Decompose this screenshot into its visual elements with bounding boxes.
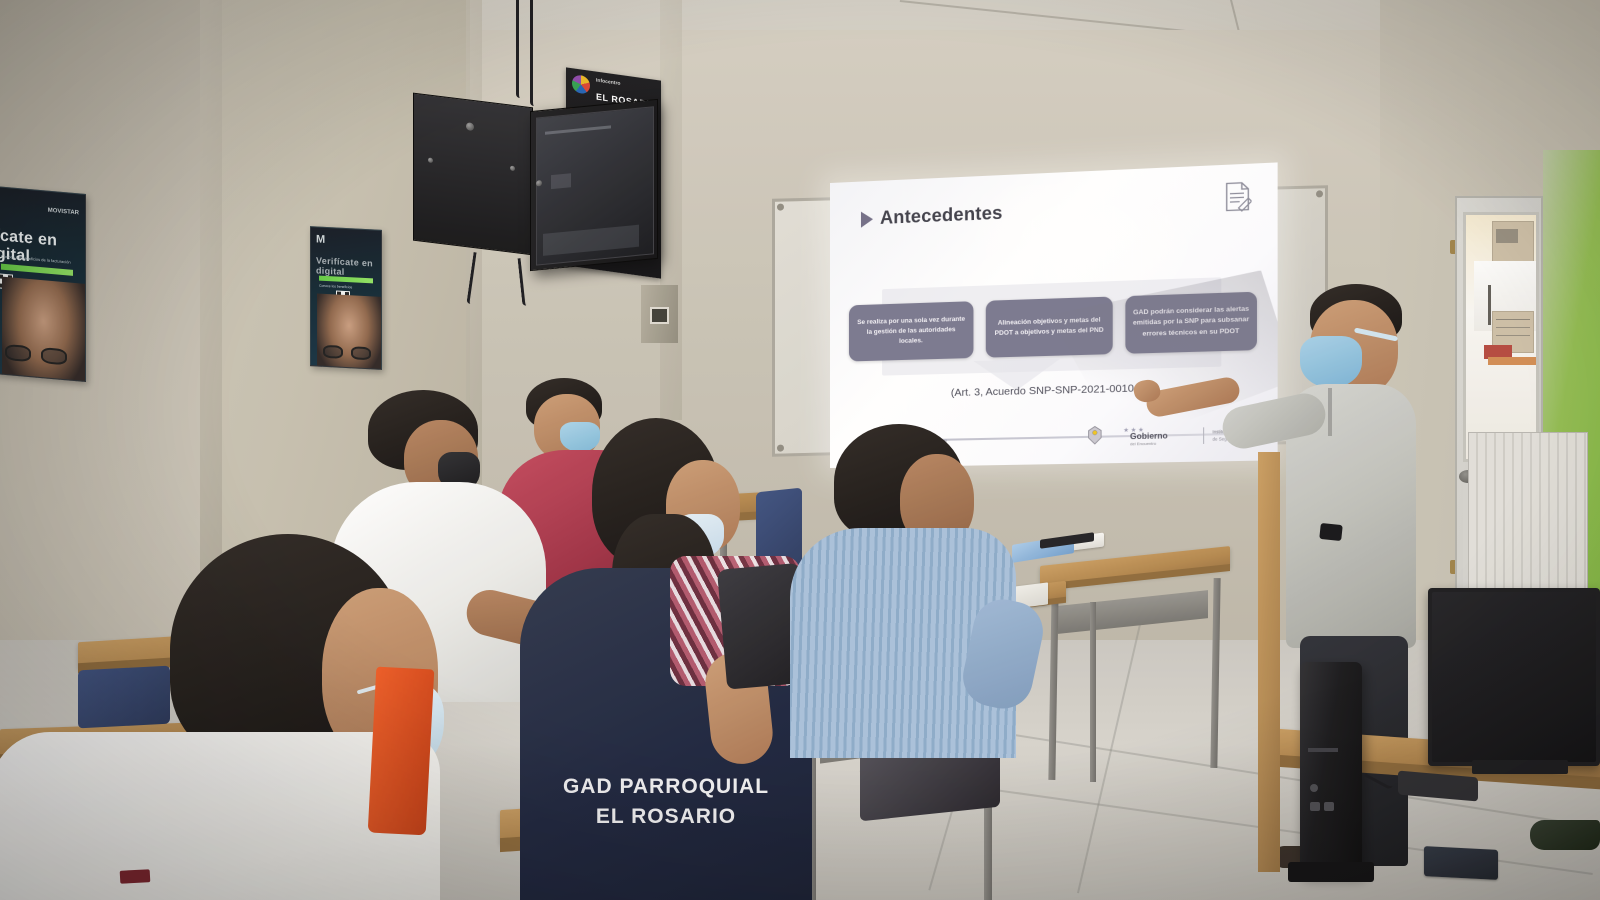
pc-tower-base	[1288, 862, 1374, 882]
calendar-line	[1496, 327, 1530, 328]
jacket-text-line2: EL ROSARIO	[520, 804, 812, 829]
rack-glare	[545, 125, 611, 134]
banner-small-text: Infocentro	[596, 78, 620, 87]
scene-root: MOVISTAR ...ícate en digital Conoce los …	[0, 0, 1600, 900]
whiteboard-corner	[777, 445, 784, 452]
jacket-text-line1: GAD PARROQUIAL	[520, 774, 812, 799]
slide-box-1-text: Se realiza por una sola vez durante la g…	[855, 314, 967, 347]
projected-slide: Antecedentes Se realiza por una sola vez…	[830, 162, 1278, 468]
rack-screw-icon	[428, 157, 433, 163]
rack-screw-icon	[510, 166, 515, 172]
poster-face-photo	[317, 294, 381, 370]
poster-logo: MOVISTAR	[48, 208, 79, 217]
tower-port[interactable]	[1310, 802, 1320, 811]
network-rack-cabinet[interactable]	[530, 99, 658, 271]
pc-tower[interactable]	[1300, 662, 1362, 874]
desk-leg	[1090, 602, 1096, 782]
rack-screw-icon	[466, 122, 474, 131]
poster-face-photo	[2, 277, 85, 382]
tower-label	[1308, 748, 1338, 752]
chair-blue[interactable]	[78, 666, 170, 729]
door-glass-panel	[1463, 212, 1539, 462]
footer-vertical-divider	[1203, 427, 1204, 444]
document-pencil-icon	[1224, 180, 1252, 212]
whiteboard-corner	[777, 204, 784, 211]
wall-pillar	[660, 0, 682, 420]
desktop-monitor[interactable]	[1428, 588, 1600, 766]
glasses-icon	[351, 346, 371, 360]
polo-placket	[1328, 388, 1332, 436]
power-button[interactable]	[1310, 784, 1318, 792]
network-rack-side	[413, 93, 533, 256]
gobierno-sub-text: del Encuentro	[1130, 441, 1156, 447]
poster-logo: M	[316, 233, 325, 245]
wall-poster-left: MOVISTAR ...ícate en digital Conoce los …	[0, 186, 86, 382]
dark-object-on-desk	[1530, 820, 1600, 850]
rack-latch-icon[interactable]	[536, 180, 542, 187]
pipe	[1488, 285, 1491, 325]
ceiling-cable	[516, 0, 520, 98]
monitor-stand	[1472, 760, 1568, 774]
wristwatch	[1319, 523, 1343, 541]
shirt-logo-patch	[120, 869, 151, 884]
face-mask	[1300, 336, 1362, 388]
color-wheel-logo	[572, 74, 590, 95]
wall-radiator-panel	[1468, 432, 1588, 612]
desk-vertical-panel	[1258, 452, 1280, 872]
poster-body: Conoce los beneficios	[319, 284, 375, 291]
rack-glare	[543, 225, 639, 256]
face-mask	[560, 422, 600, 452]
wall-poster-right: M Verifícate en digital Conoce los benef…	[310, 226, 382, 370]
tower-port[interactable]	[1324, 802, 1334, 811]
ecuador-coat-of-arms-icon	[1087, 425, 1102, 445]
slide-box-1: Se realiza por una sola vez durante la g…	[849, 301, 973, 361]
calendar-line	[1496, 319, 1530, 320]
rack-glass-door[interactable]	[536, 106, 654, 265]
calendar-line	[1496, 335, 1530, 336]
rack-glare	[551, 173, 571, 189]
whiteboard-corner	[1316, 190, 1323, 197]
glasses-icon	[323, 345, 343, 359]
chevron-right-icon	[861, 211, 873, 228]
orange-container[interactable]	[368, 667, 435, 836]
remote-on-desk[interactable]	[1424, 846, 1498, 880]
ceiling-cable	[530, 0, 534, 106]
wall-outlet-box[interactable]	[641, 285, 678, 343]
monitor-screen	[1432, 592, 1596, 762]
document-text-block	[1496, 229, 1518, 243]
orange-object	[1488, 357, 1538, 365]
